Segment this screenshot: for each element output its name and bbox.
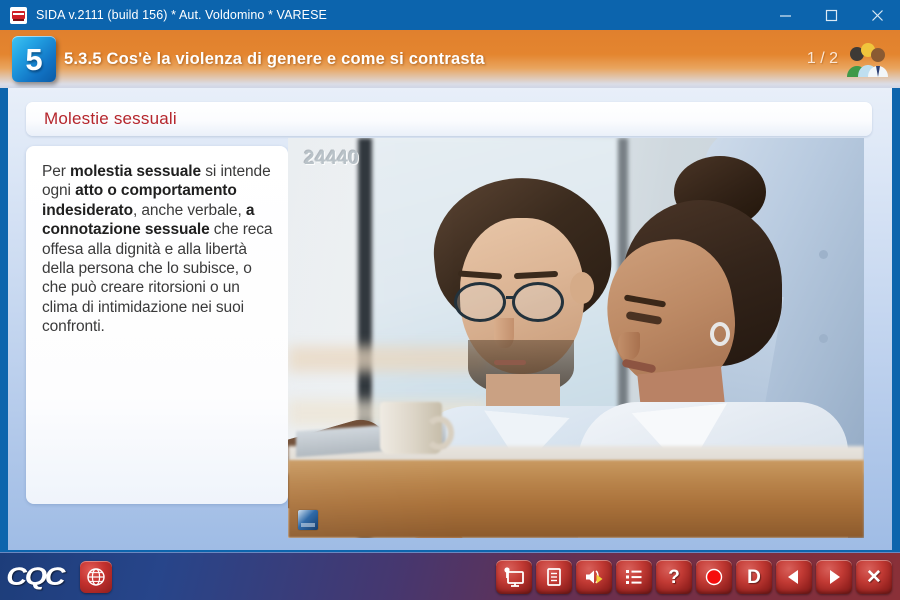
section-subtitle: Molestie sessuali [44,109,177,129]
close-app-button[interactable]: ✕ [856,560,892,594]
globe-icon[interactable] [80,561,112,593]
photo-scene [288,138,864,538]
page-title: 5.3.5 Cos'è la violenza di genere e come… [64,30,485,88]
list-button[interactable] [616,560,652,594]
bottom-toolbar: CQC [0,552,900,600]
cqc-logo: CQC [10,562,60,592]
arrow-right-icon [824,568,844,586]
maximize-button[interactable] [808,0,854,30]
lesson-header: 5 5.3.5 Cos'è la violenza di genere e co… [0,30,900,88]
truck-icon [10,7,27,24]
action-buttons: ? D ✕ [496,560,892,594]
minimize-button[interactable] [762,0,808,30]
section-subtitle-bar: Molestie sessuali [26,102,872,136]
record-circle-icon [704,567,724,587]
presentation-button[interactable] [496,560,532,594]
chapter-number-badge: 5 [12,36,56,82]
arrow-left-icon [784,568,804,586]
document-button[interactable] [536,560,572,594]
content-page: Molestie sessuali Per molestia sessuale … [8,88,892,550]
close-button[interactable] [854,0,900,30]
next-button[interactable] [816,560,852,594]
lesson-photo: 24440 [288,138,864,538]
previous-button[interactable] [776,560,812,594]
letter-d-icon: D [747,568,761,587]
title-bar: SIDA v.2111 (build 156) * Aut. Voldomino… [0,0,900,30]
window-title: SIDA v.2111 (build 156) * Aut. Voldomino… [36,0,327,30]
dictionary-button[interactable]: D [736,560,772,594]
page-indicator: 1 / 2 [807,30,838,88]
help-button[interactable]: ? [656,560,692,594]
photo-watermark: 24440 [304,148,359,170]
record-button[interactable] [696,560,732,594]
x-icon: ✕ [866,568,882,587]
audio-button[interactable] [576,560,612,594]
cqc-logo-text: CQC [6,563,63,592]
application-window: SIDA v.2111 (build 156) * Aut. Voldomino… [0,0,900,600]
lesson-body-text: Per molestia sessuale si intende ogni at… [42,162,274,337]
chapter-number-label: 5 [25,44,42,75]
question-mark-icon: ? [668,568,680,587]
window-controls [762,0,900,30]
lesson-text-card: Per molestia sessuale si intende ogni at… [26,146,288,504]
people-group-icon [844,43,890,77]
sida-logo-badge [298,510,318,530]
